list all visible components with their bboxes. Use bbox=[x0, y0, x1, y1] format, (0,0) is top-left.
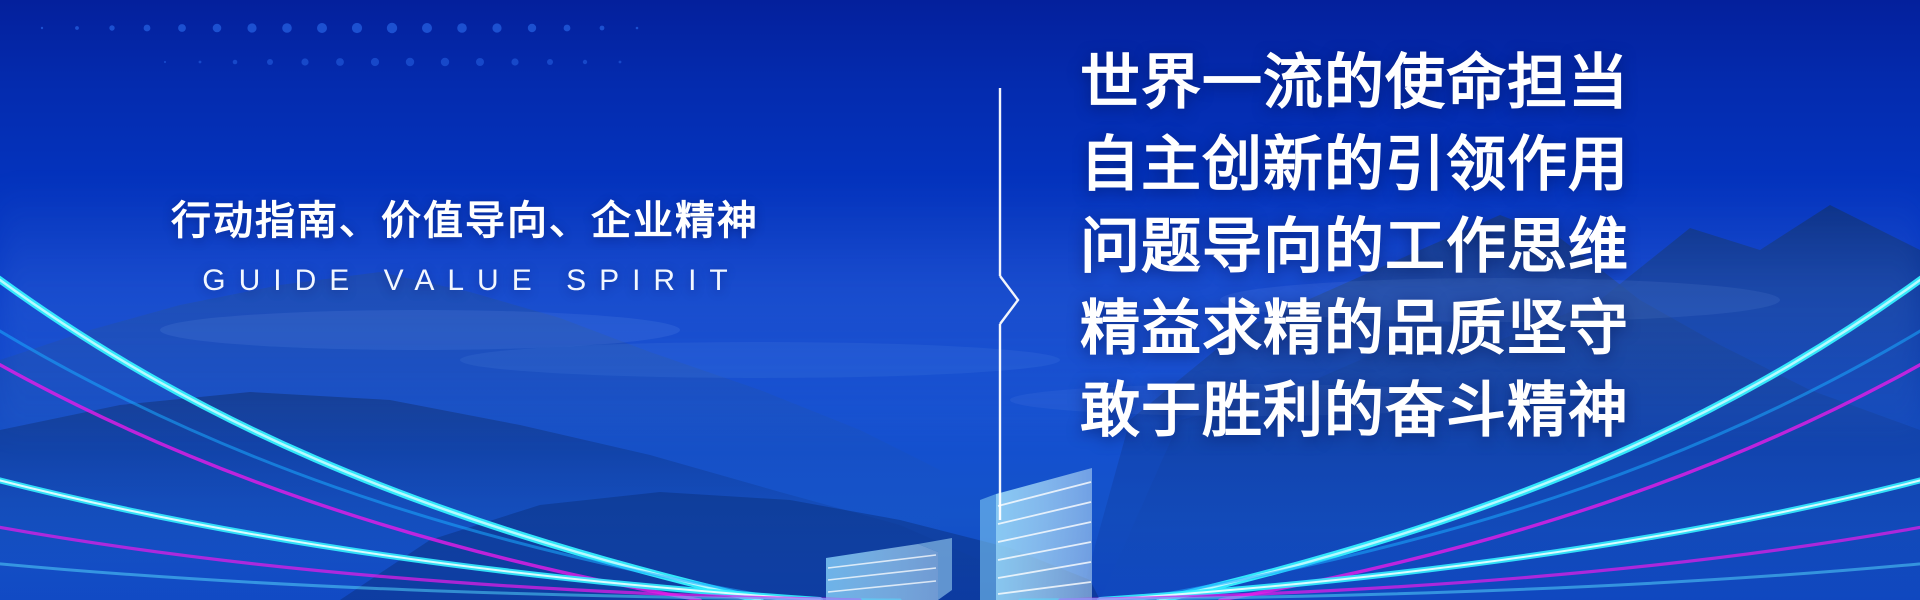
right-line-2: 自主创新的引领作用 bbox=[1080, 124, 1700, 206]
corporate-culture-banner: 行动指南、价值导向、企业精神 GUIDE VALUE SPIRIT 世界一流的使… bbox=[0, 0, 1920, 600]
right-line-3: 问题导向的工作思维 bbox=[1080, 206, 1700, 288]
right-line-5: 敢于胜利的奋斗精神 bbox=[1080, 370, 1700, 452]
right-line-4: 精益求精的品质坚守 bbox=[1080, 288, 1700, 370]
city-building-silhouettes bbox=[820, 440, 1150, 600]
left-text-block: 行动指南、价值导向、企业精神 GUIDE VALUE SPIRIT bbox=[0, 196, 930, 297]
left-subline-en: GUIDE VALUE SPIRIT bbox=[0, 264, 930, 297]
left-headline-cn: 行动指南、价值导向、企业精神 bbox=[0, 196, 930, 246]
right-line-1: 世界一流的使命担当 bbox=[1080, 42, 1700, 124]
halftone-dot-pattern bbox=[0, 0, 660, 90]
section-divider bbox=[992, 88, 1032, 520]
chevron-right-icon bbox=[1000, 276, 1018, 324]
right-text-block: 世界一流的使命担当 自主创新的引领作用 问题导向的工作思维 精益求精的品质坚守 … bbox=[1080, 42, 1700, 452]
